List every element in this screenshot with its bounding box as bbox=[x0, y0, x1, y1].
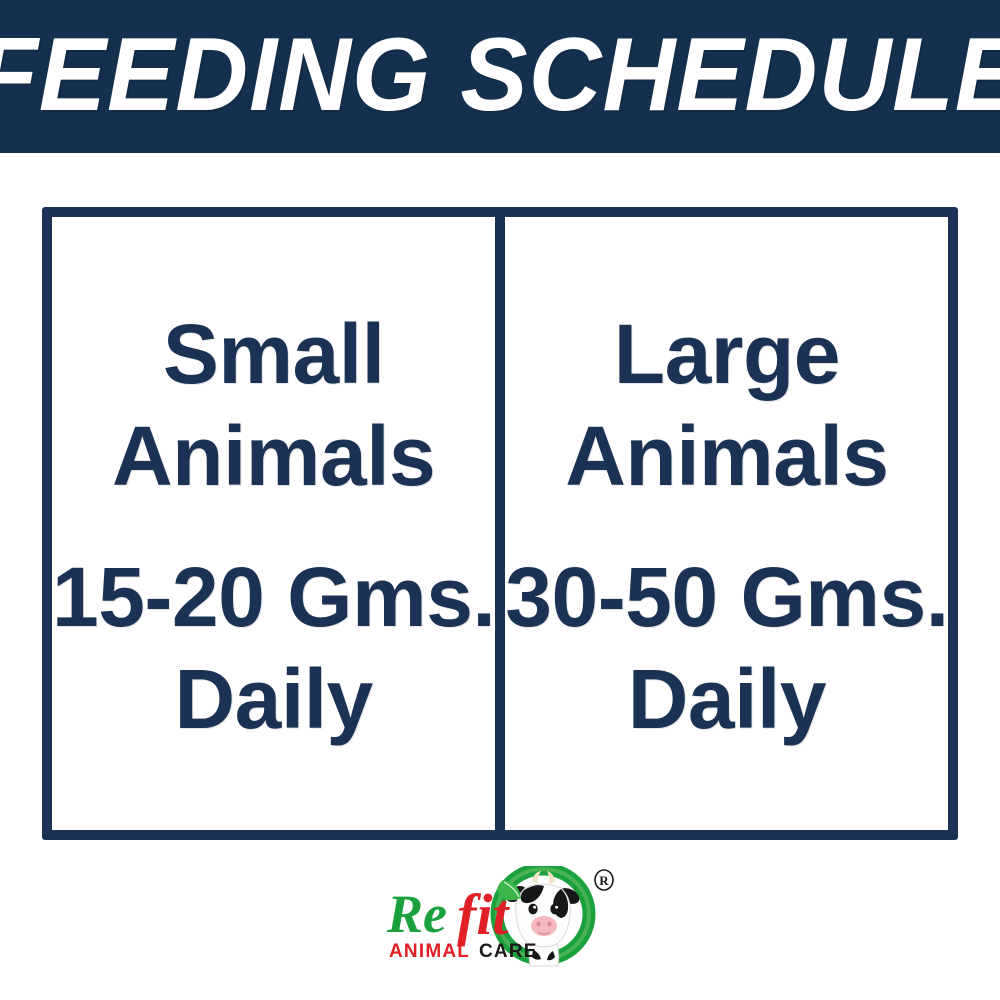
header-banner: FEEDING SCHEDULE bbox=[0, 0, 1000, 153]
schedule-column-large-animals: Large Animals 30-50 Gms. Daily bbox=[500, 217, 948, 830]
small-animals-label-line2: Animals bbox=[112, 405, 435, 507]
large-animals-dose-line1: 30-50 Gms. bbox=[505, 546, 948, 648]
brand-name-part-green: Re bbox=[386, 884, 447, 944]
schedule-column-small-animals: Small Animals 15-20 Gms. Daily bbox=[52, 217, 500, 830]
large-animals-dose-line2: Daily bbox=[628, 648, 826, 750]
refit-animal-care-logo: R Re fit ANIMAL CARE bbox=[375, 866, 625, 970]
feeding-schedule-table: Small Animals 15-20 Gms. Daily Large Ani… bbox=[42, 207, 958, 840]
tagline-care: CARE bbox=[479, 941, 538, 962]
large-animals-label-line1: Large bbox=[614, 303, 840, 405]
tagline-animal: ANIMAL bbox=[389, 941, 470, 962]
small-animals-label-line1: Small bbox=[163, 303, 385, 405]
large-animals-label-line2: Animals bbox=[565, 405, 888, 507]
page-title: FEEDING SCHEDULE bbox=[0, 23, 1000, 127]
brand-logo: R Re fit ANIMAL CARE bbox=[0, 866, 1000, 976]
brand-name-part-red: fit bbox=[457, 882, 510, 947]
small-animals-dose-line2: Daily bbox=[174, 648, 372, 750]
small-animals-dose-line1: 15-20 Gms. bbox=[52, 546, 495, 648]
logo-wordmark-svg: Re fit ANIMAL CARE bbox=[375, 866, 625, 970]
